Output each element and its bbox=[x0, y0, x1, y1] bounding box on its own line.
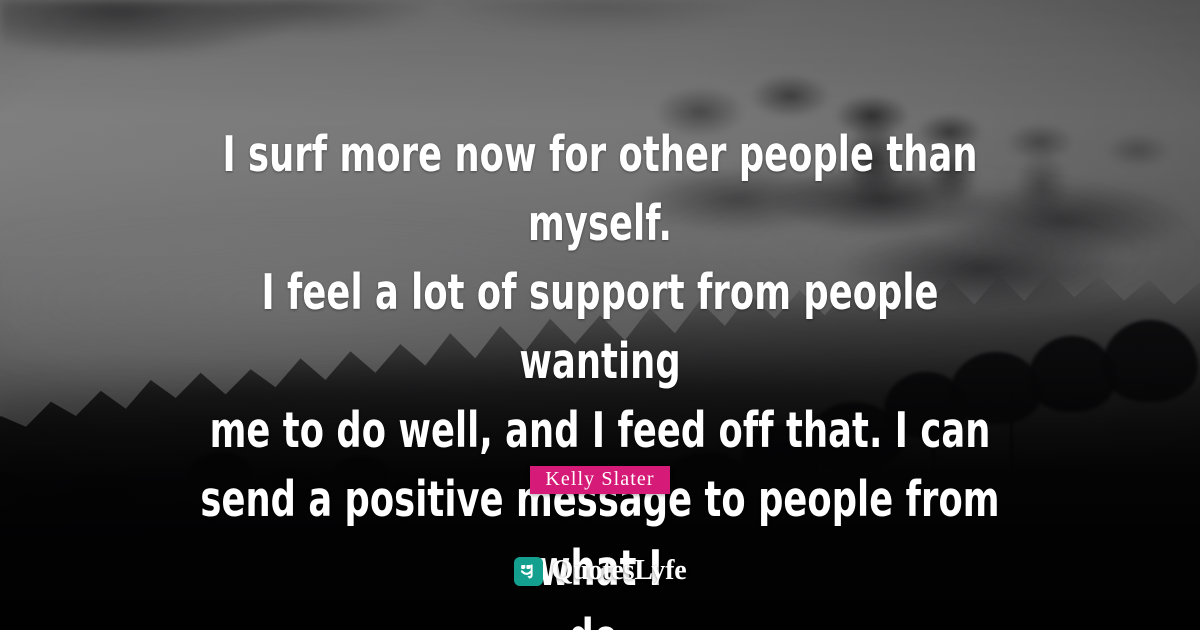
author-name-badge[interactable]: Kelly Slater bbox=[530, 466, 669, 494]
brand-logo[interactable]: QuotesLyfe bbox=[0, 556, 1200, 586]
quote-text: I surf more now for other people than my… bbox=[192, 120, 1008, 630]
quote-block: I surf more now for other people than my… bbox=[0, 120, 1200, 630]
brand-name: QuotesLyfe bbox=[552, 556, 687, 586]
quote-smiley-icon bbox=[514, 557, 543, 586]
quote-card: I surf more now for other people than my… bbox=[0, 0, 1200, 630]
author-badge-container: Kelly Slater bbox=[0, 466, 1200, 494]
